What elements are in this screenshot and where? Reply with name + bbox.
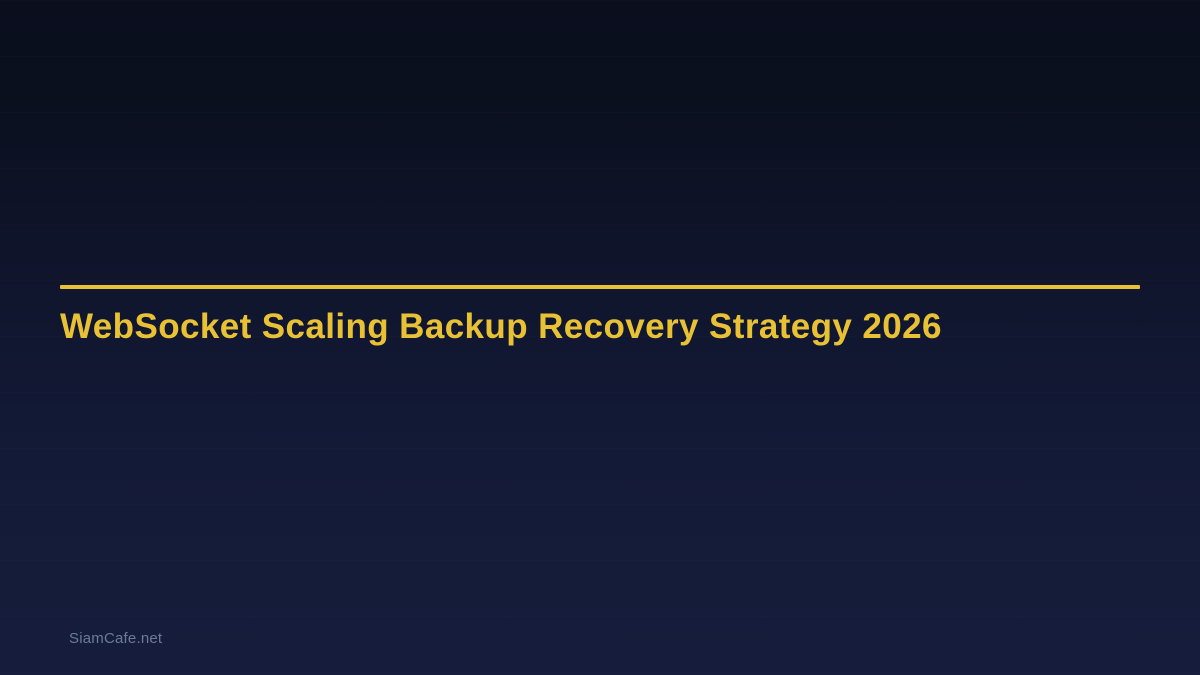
footer-brand-label: SiamCafe.net — [69, 630, 162, 647]
title-block: WebSocket Scaling Backup Recovery Strate… — [60, 285, 1140, 346]
slide-footer: SiamCafe.net — [69, 630, 162, 648]
accent-rule — [60, 285, 1140, 289]
presentation-slide: WebSocket Scaling Backup Recovery Strate… — [0, 0, 1200, 675]
page-title: WebSocket Scaling Backup Recovery Strate… — [60, 307, 1140, 346]
